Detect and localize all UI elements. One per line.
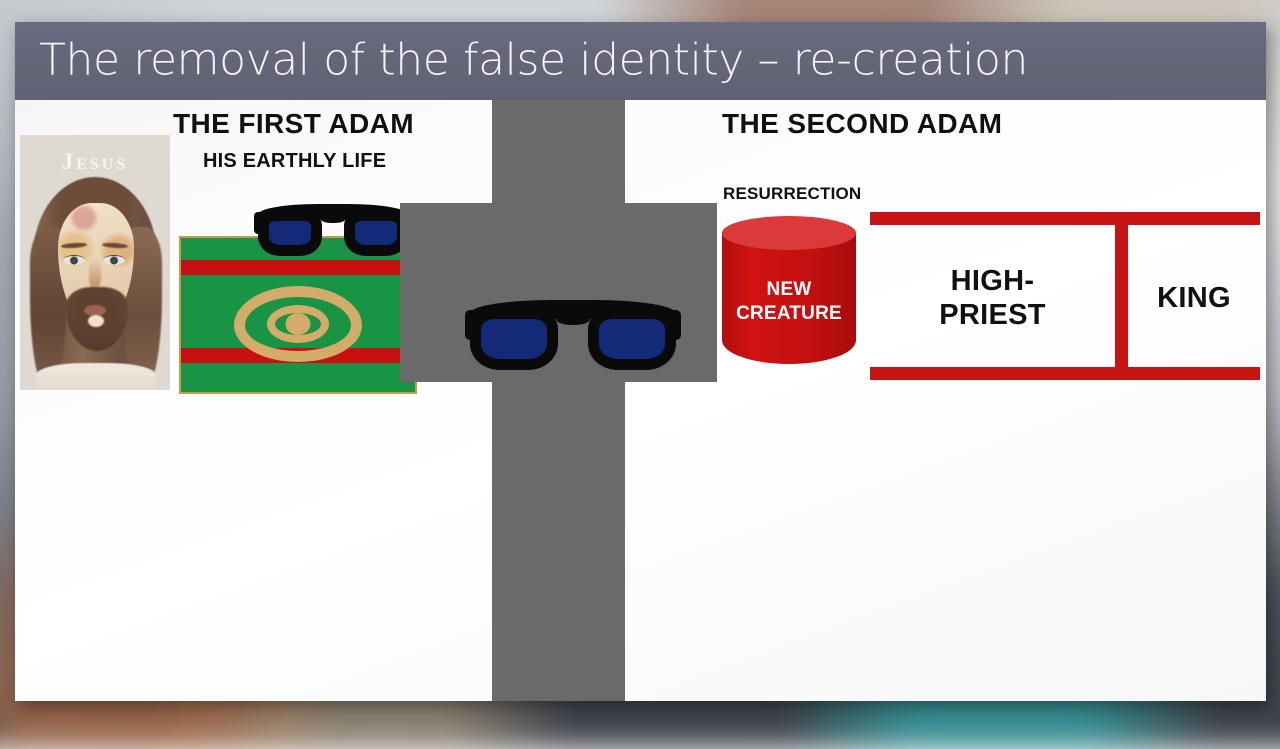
jesus-eye-left: [63, 255, 85, 265]
roles-divider: [1115, 225, 1128, 367]
cylinder-top-ellipse: [722, 216, 856, 250]
sunglasses-icon-small: [254, 204, 412, 260]
first-adam-subheading: HIS EARTHLY LIFE: [203, 150, 386, 173]
jesus-chin-highlight: [88, 315, 104, 327]
sunglasses-bridge: [556, 311, 590, 325]
new-creature-line-1: NEW: [722, 278, 856, 302]
banner-stripe-top: [181, 260, 415, 275]
role-label-high-priest: HIGH-PRIEST: [870, 264, 1115, 332]
jesus-robe: [36, 363, 156, 390]
sunglasses-lens-right: [344, 210, 408, 256]
roles-panel: HIGH-PRIEST KING: [870, 212, 1260, 380]
jesus-portrait-card: Jesus: [20, 135, 170, 390]
sunglasses-lens-left: [258, 210, 322, 256]
jesus-nose: [89, 259, 101, 289]
presentation-slide: The removal of the false identity – re-c…: [15, 22, 1266, 701]
page-title: The removal of the false identity – re-c…: [39, 34, 1028, 85]
resurrection-label: RESURRECTION: [723, 184, 861, 204]
cross-vertical-beam: [492, 100, 625, 701]
jesus-eye-right: [103, 255, 125, 265]
all-seeing-eye-icon: [234, 286, 362, 362]
slide-title-bar: The removal of the false identity – re-c…: [15, 22, 1266, 100]
second-adam-heading: THE SECOND ADAM: [722, 108, 1002, 140]
sunglasses-bridge: [320, 212, 346, 223]
jesus-label: Jesus: [20, 149, 170, 175]
sunglasses-lens-left: [470, 308, 558, 370]
sunglasses-icon-large: [465, 300, 681, 372]
role-label-king: KING: [1128, 282, 1260, 315]
eye-pupil: [286, 313, 311, 335]
new-creature-label: NEW CREATURE: [722, 278, 856, 326]
first-adam-heading: THE FIRST ADAM: [173, 108, 414, 140]
roles-bar-bottom: [870, 367, 1260, 380]
new-creature-cylinder: NEW CREATURE: [722, 216, 856, 374]
roles-bar-top: [870, 212, 1260, 225]
new-creature-line-2: CREATURE: [722, 302, 856, 326]
sunglasses-lens-right: [588, 308, 676, 370]
